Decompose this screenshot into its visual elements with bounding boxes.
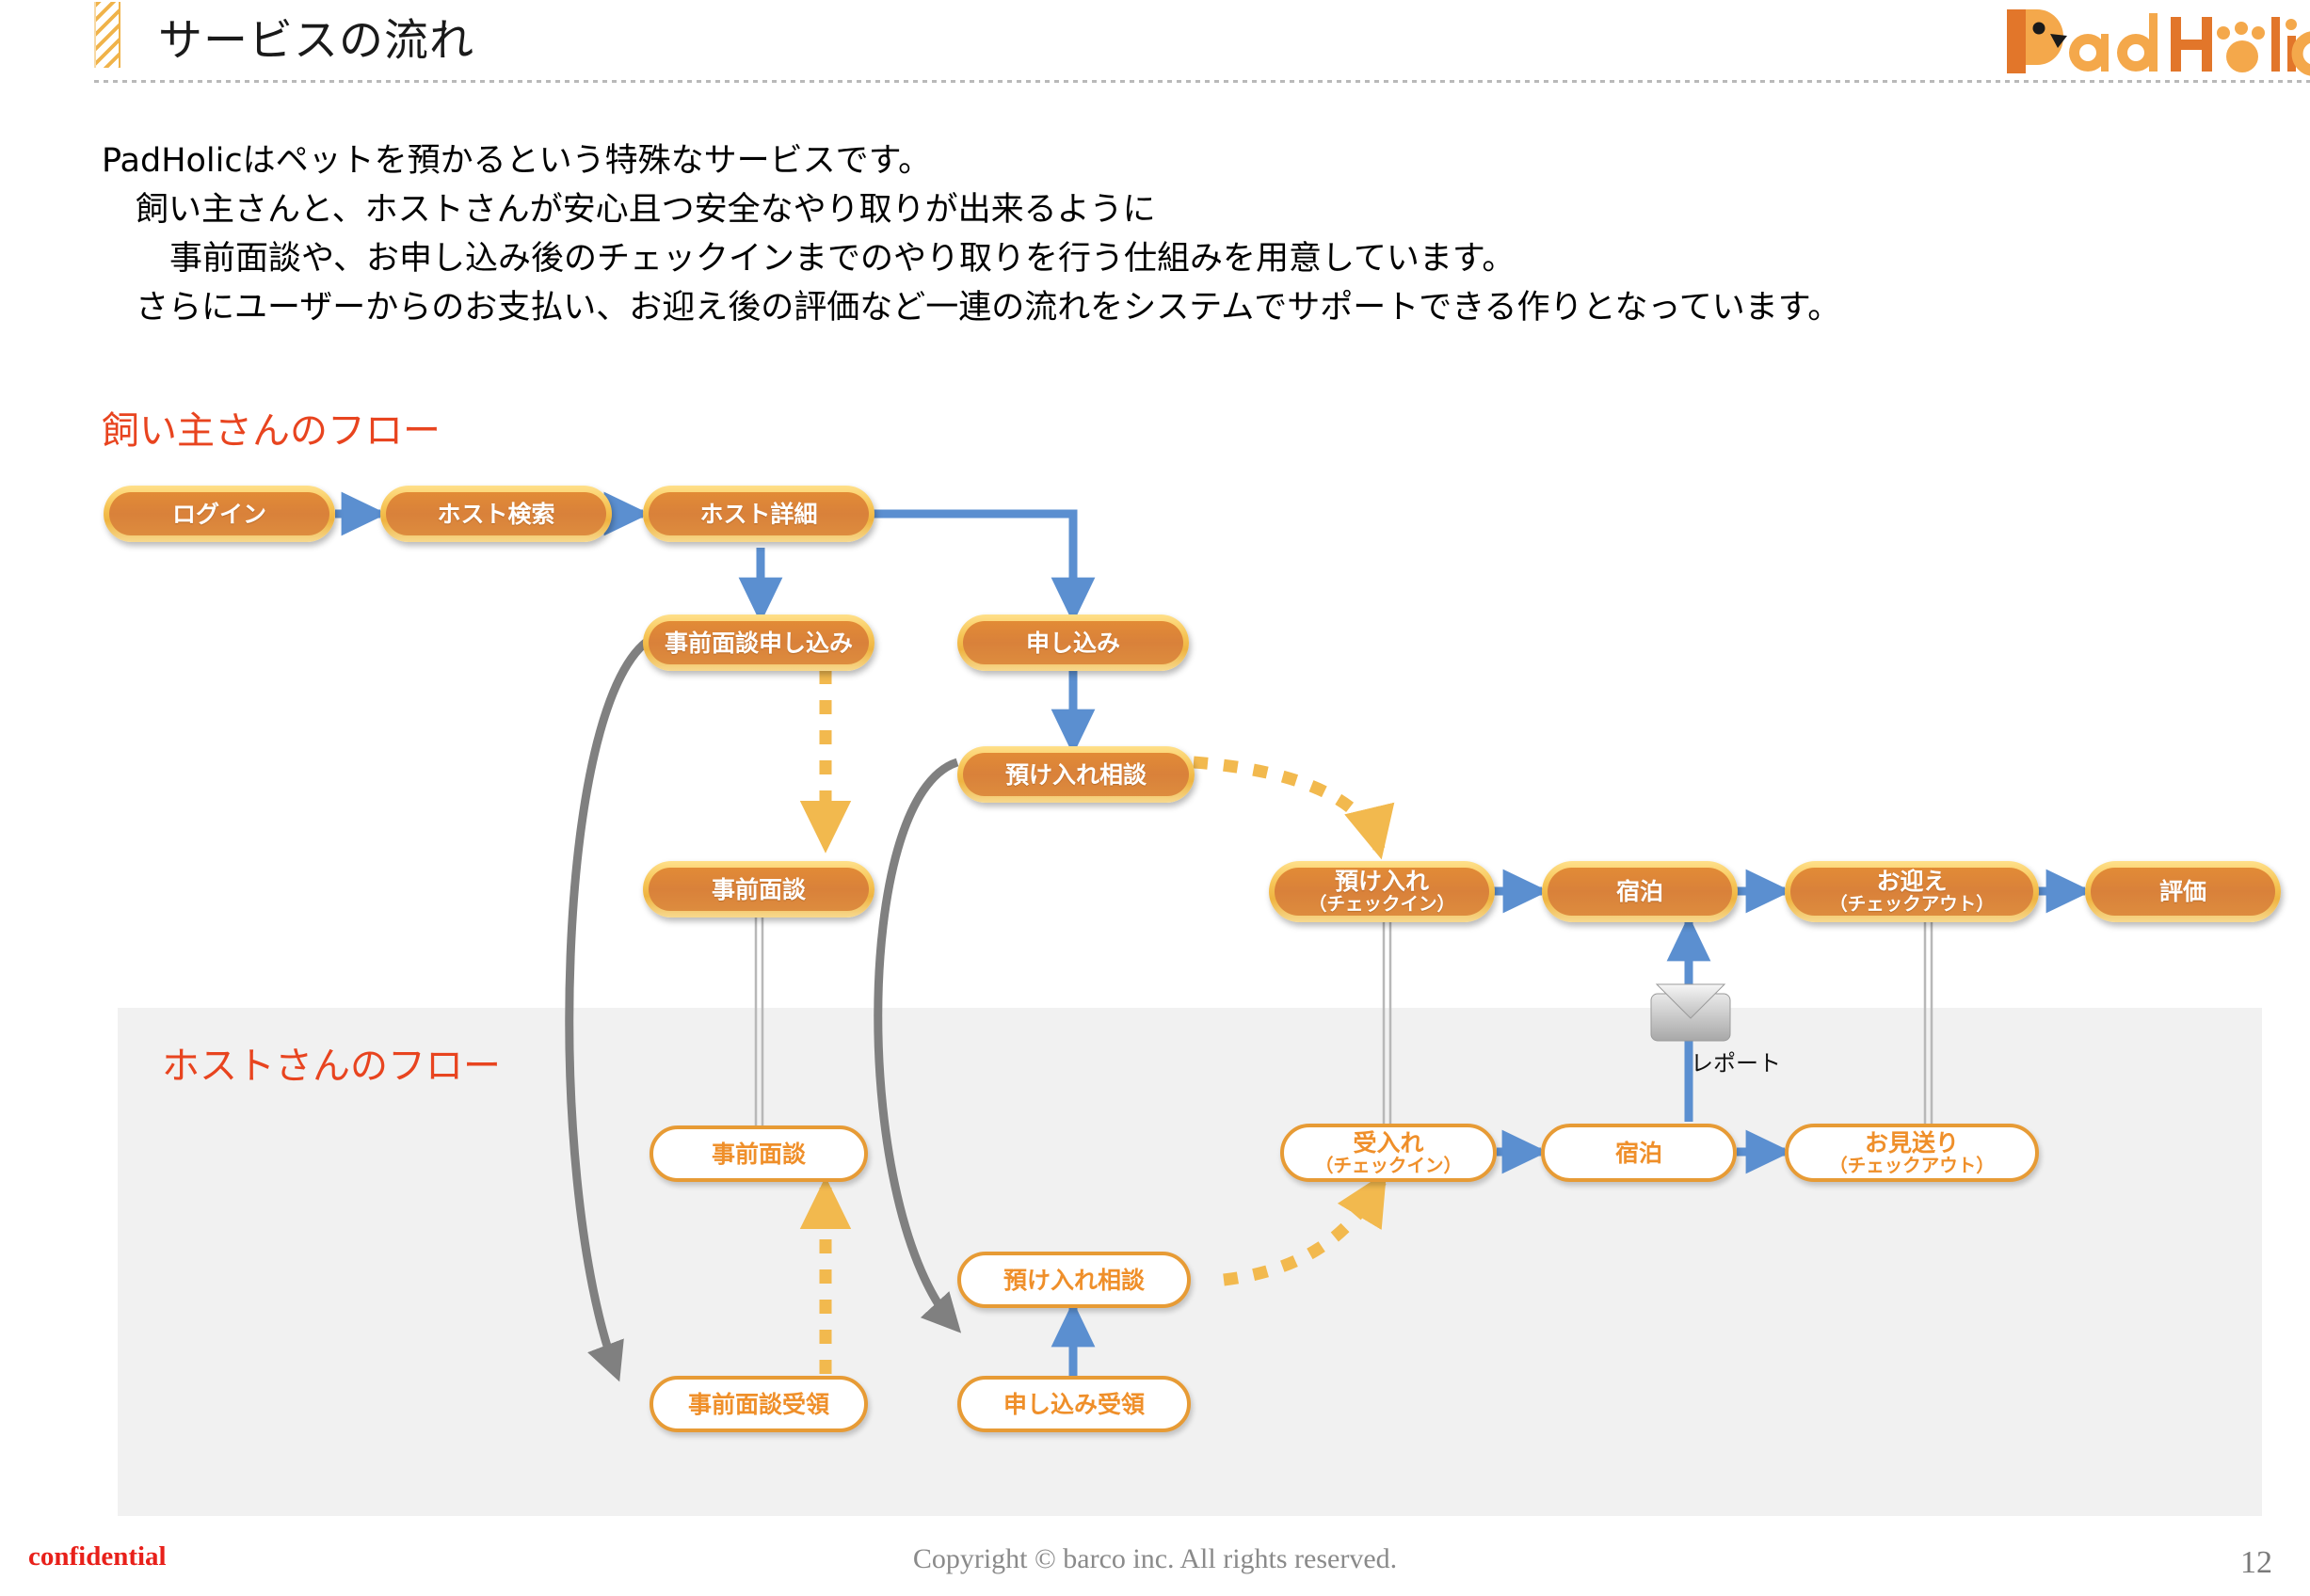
node-label: 預け入れ — [1335, 868, 1429, 895]
node-label: 事前面談受領 — [688, 1392, 829, 1417]
node-host-stay[interactable]: 宿泊 — [1541, 1124, 1737, 1182]
node-host-interview[interactable]: 事前面談 — [650, 1125, 868, 1182]
node-host-search[interactable]: ホスト検索 — [380, 486, 612, 542]
node-label: 申し込み受領 — [1003, 1392, 1145, 1417]
node-host-apply-received[interactable]: 申し込み受領 — [957, 1376, 1191, 1432]
node-label: ホスト詳細 — [699, 502, 817, 527]
node-pickup[interactable]: お迎え （チェックアウト） — [1785, 861, 2039, 922]
node-label: 預け入れ相談 — [1005, 762, 1147, 788]
node-label-group: お迎え （チェックアウト） — [1829, 869, 1995, 914]
page-footer: confidential Copyright © barco inc. All … — [0, 1530, 2310, 1596]
node-host-interview-received[interactable]: 事前面談受領 — [650, 1376, 868, 1432]
node-label: 宿泊 — [1616, 879, 1663, 904]
node-label: 申し込み — [1026, 630, 1120, 656]
node-label: 評価 — [2159, 879, 2206, 904]
node-label-group: お見送り （チェックアウト） — [1829, 1130, 1995, 1175]
node-label: ログイン — [172, 502, 266, 527]
copyright-text: Copyright © barco inc. All rights reserv… — [0, 1543, 2310, 1575]
node-sublabel: （チェックアウト） — [1829, 1156, 1995, 1175]
node-label: 預け入れ相談 — [1003, 1268, 1145, 1293]
report-label: レポート — [1691, 1045, 1781, 1077]
node-interview-apply[interactable]: 事前面談申し込み — [643, 614, 874, 671]
node-label: お迎え — [1876, 868, 1947, 895]
node-login[interactable]: ログイン — [104, 486, 335, 542]
node-label-group: 受入れ （チェックイン） — [1315, 1130, 1462, 1175]
node-checkin[interactable]: 預け入れ （チェックイン） — [1269, 861, 1495, 922]
node-sublabel: （チェックイン） — [1308, 894, 1455, 914]
node-deposit-consult[interactable]: 預け入れ相談 — [957, 746, 1195, 803]
node-label: お見送り — [1865, 1129, 1959, 1157]
node-label: 宿泊 — [1615, 1141, 1662, 1166]
node-label-group: 預け入れ （チェックイン） — [1308, 869, 1455, 914]
node-host-accept[interactable]: 受入れ （チェックイン） — [1280, 1124, 1497, 1182]
node-stay[interactable]: 宿泊 — [1542, 861, 1738, 922]
node-sublabel: （チェックイン） — [1315, 1156, 1462, 1175]
node-label: 事前面談 — [712, 1141, 806, 1167]
node-interview[interactable]: 事前面談 — [643, 861, 874, 918]
node-label: ホスト検索 — [437, 502, 554, 527]
node-host-deposit-consult[interactable]: 預け入れ相談 — [957, 1252, 1191, 1308]
node-label: 受入れ — [1353, 1129, 1423, 1157]
page-number: 12 — [2240, 1545, 2272, 1581]
node-apply[interactable]: 申し込み — [957, 614, 1189, 671]
node-label: 事前面談申し込み — [665, 630, 853, 656]
envelope-icon — [1649, 981, 1732, 1043]
node-label: 事前面談 — [712, 877, 806, 902]
node-sublabel: （チェックアウト） — [1829, 894, 1995, 914]
node-rating[interactable]: 評価 — [2085, 861, 2281, 922]
node-host-detail[interactable]: ホスト詳細 — [643, 486, 874, 542]
node-host-send-off[interactable]: お見送り （チェックアウト） — [1785, 1124, 2039, 1182]
